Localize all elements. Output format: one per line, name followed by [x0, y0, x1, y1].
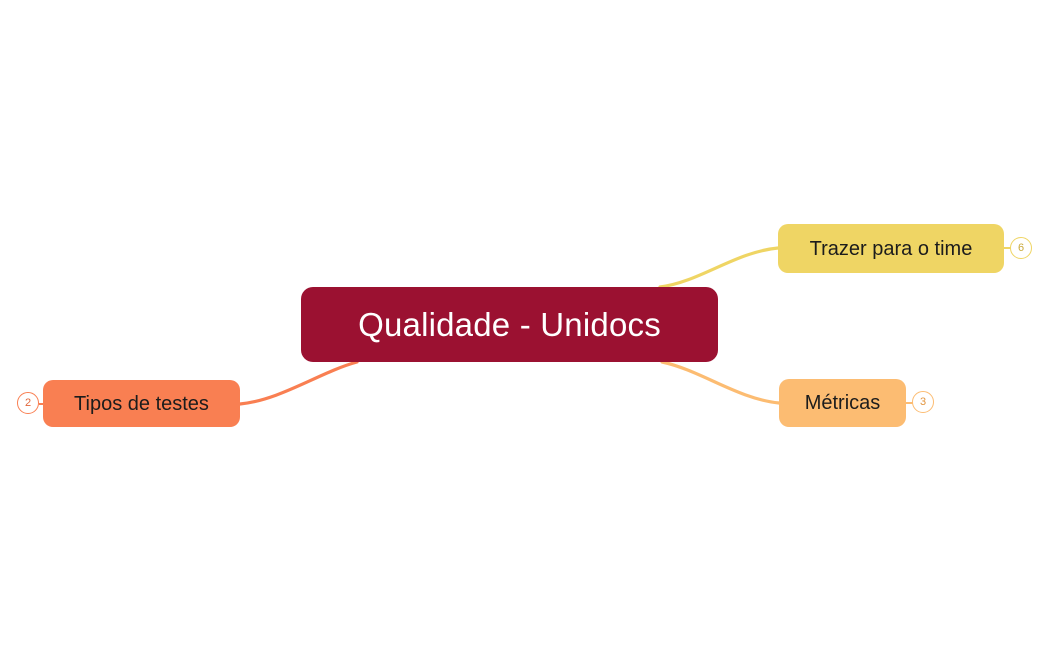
mindmap-node-label-trazer: Trazer para o time [810, 239, 973, 259]
mindmap-node-tipos-de-testes[interactable]: Tipos de testes [43, 380, 240, 427]
badge-count-metricas[interactable]: 3 [912, 391, 934, 413]
badge-stub-tipos [39, 403, 47, 405]
badge-count-label-metricas: 3 [920, 397, 926, 408]
badge-count-tipos[interactable]: 2 [17, 392, 39, 414]
mindmap-canvas: Qualidade - Unidocs Trazer para o time 6… [0, 0, 1049, 650]
connector-root-to-tipos [240, 362, 357, 404]
badge-count-label-trazer: 6 [1018, 243, 1024, 254]
connector-root-to-trazer [660, 248, 778, 287]
badge-count-label-tipos: 2 [25, 398, 31, 409]
mindmap-node-label-tipos: Tipos de testes [74, 394, 209, 414]
mindmap-node-label-metricas: Métricas [805, 393, 881, 413]
mindmap-node-metricas[interactable]: Métricas [779, 379, 906, 427]
mindmap-root-node[interactable]: Qualidade - Unidocs [301, 287, 718, 362]
mindmap-node-trazer-para-o-time[interactable]: Trazer para o time [778, 224, 1004, 273]
mindmap-root-label: Qualidade - Unidocs [358, 308, 661, 341]
connector-root-to-metricas [662, 362, 779, 403]
badge-count-trazer[interactable]: 6 [1010, 237, 1032, 259]
